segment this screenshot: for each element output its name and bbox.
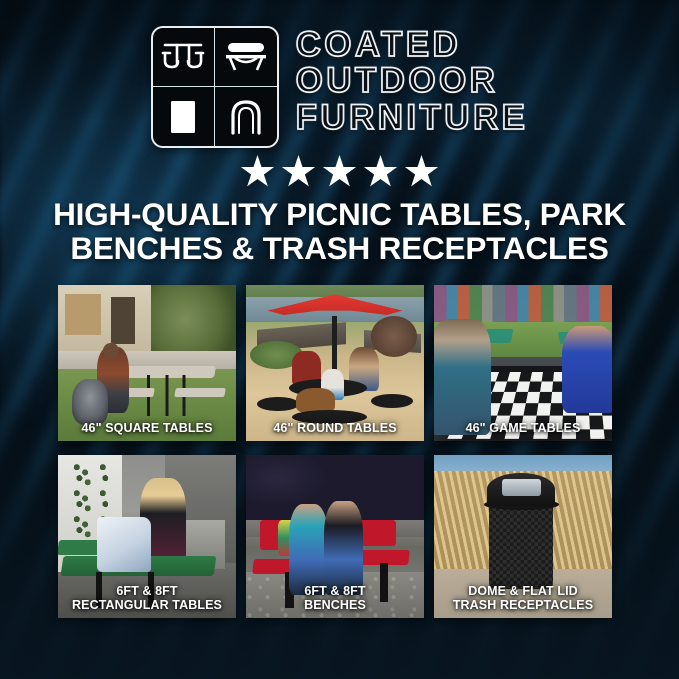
star-icon-2 [282,155,316,189]
brand-logo: COATED OUTDOOR FURNITURE [0,26,679,148]
caption-line-2: TRASH RECEPTACLES [438,599,608,613]
tile-caption: 46" GAME TABLES [434,422,612,436]
tile-caption: 6FT & 8FT RECTANGULAR TABLES [58,585,236,612]
headline: HIGH-QUALITY PICNIC TABLES, PARK BENCHES… [0,198,679,265]
tile-caption: DOME & FLAT LID TRASH RECEPTACLES [434,585,612,612]
caption-line-1: 46" ROUND TABLES [250,422,420,436]
star-icon-4 [364,155,398,189]
caption-line-2: RECTANGULAR TABLES [62,599,232,613]
star-icon-1 [241,155,275,189]
product-poster: COATED OUTDOOR FURNITURE HIGH-QUALITY PI… [0,0,679,679]
logo-icon-grid [151,26,279,148]
star-icon-3 [323,155,357,189]
product-tile-trash-receptacles[interactable]: DOME & FLAT LID TRASH RECEPTACLES [434,455,612,618]
product-grid: 46" SQUARE TABLES 46" ROUND TABLES [58,285,612,618]
bike-rack-icon [215,87,277,146]
trash-receptacle-icon [153,87,215,146]
caption-line-1: 6FT & 8FT [250,585,420,599]
product-tile-benches[interactable]: 6FT & 8FT BENCHES [246,455,424,618]
photo-square-tables [58,285,236,441]
product-tile-round-tables[interactable]: 46" ROUND TABLES [246,285,424,441]
photo-round-tables [246,285,424,441]
headline-line-2: BENCHES & TRASH RECEPTACLES [24,232,655,266]
product-tile-rectangular-tables[interactable]: 6FT & 8FT RECTANGULAR TABLES [58,455,236,618]
picnic-table-icon [153,28,215,87]
brand-word-furniture: FURNITURE [296,101,529,135]
star-icon-5 [405,155,439,189]
tile-caption: 6FT & 8FT BENCHES [246,585,424,612]
caption-line-1: 46" GAME TABLES [438,422,608,436]
product-tile-square-tables[interactable]: 46" SQUARE TABLES [58,285,236,441]
star-rating [0,155,679,189]
photo-game-tables [434,285,612,441]
park-bench-icon [215,28,277,87]
tile-caption: 46" SQUARE TABLES [58,422,236,436]
caption-line-2: BENCHES [250,599,420,613]
caption-line-1: 46" SQUARE TABLES [62,422,232,436]
caption-line-1: DOME & FLAT LID [438,585,608,599]
tile-caption: 46" ROUND TABLES [246,422,424,436]
caption-line-1: 6FT & 8FT [62,585,232,599]
brand-wordmark: COATED OUTDOOR FURNITURE [296,26,529,135]
headline-line-1: HIGH-QUALITY PICNIC TABLES, PARK [24,198,655,232]
brand-word-coated: COATED [296,28,529,62]
product-tile-game-tables[interactable]: 46" GAME TABLES [434,285,612,441]
brand-word-outdoor: OUTDOOR [296,64,529,98]
